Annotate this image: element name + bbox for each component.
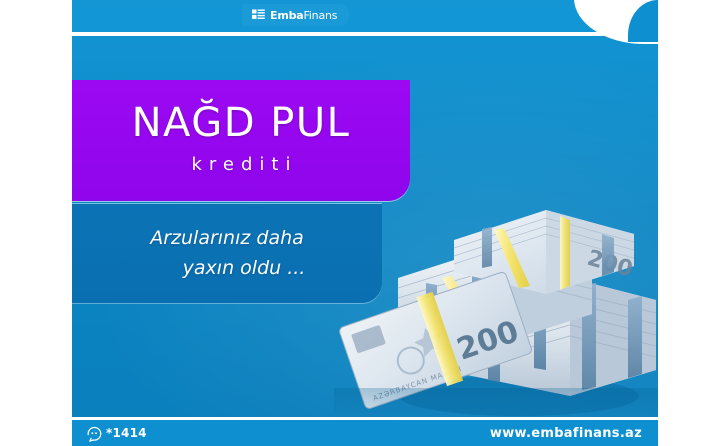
tagline-line-2: yaxın oldu ...	[149, 254, 306, 283]
phone-number: *1414	[106, 426, 147, 440]
website-url[interactable]: www.embafinans.az	[490, 426, 642, 441]
page-title: NAĞD PUL	[132, 103, 351, 143]
banner-canvas: EmbaFinans	[72, 0, 658, 446]
tagline-panel: Arzularınız daha yaxın oldu ...	[72, 204, 382, 303]
page-subtitle: krediti	[185, 154, 298, 175]
header-divider	[72, 32, 658, 36]
call-center-headset-icon	[86, 425, 103, 442]
advertisement-banner: EmbaFinans	[0, 0, 720, 446]
brand-logo[interactable]: EmbaFinans	[242, 4, 349, 26]
banknote-stacks-illustration: 200 200 AZƏRBAYCAN MANATI	[334, 182, 658, 422]
contact-phone[interactable]: *1414	[86, 425, 147, 442]
brand-logo-text-light: Finans	[303, 9, 337, 22]
header-strip	[72, 6, 658, 32]
emba-bars-icon	[252, 9, 265, 22]
tagline-line-1: Arzularınız daha	[150, 224, 304, 253]
brand-logo-text-bold: Emba	[270, 9, 303, 22]
footer-bar: *1414 www.embafinans.az	[72, 420, 658, 446]
headline-panel: NAĞD PUL krediti	[72, 80, 410, 201]
brand-logo-text: EmbaFinans	[270, 9, 337, 22]
